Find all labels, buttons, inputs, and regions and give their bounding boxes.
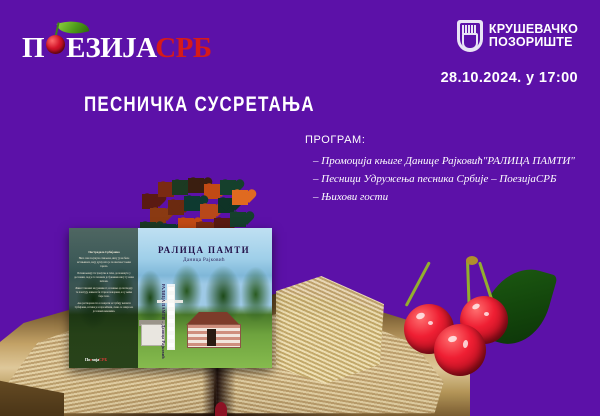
open-book-right-edge [276,276,384,384]
poem-stanza: Ниса сам посрнула слављена, нису ју ни б… [74,257,134,269]
heart-icon [184,196,200,211]
poezija-srb-logo: ПОЕЗИЈАСРБ [22,20,202,68]
heart-icon [168,200,184,215]
poem-stanza: Ако растворена ти се поврати за Србију в… [74,302,134,314]
shield-emblem-icon [457,20,483,52]
poster-canvas: ПОЕЗИЈАСРБ КРУШЕВАЧКО ПОЗОРИШТЕ 28.10.20… [0,0,600,416]
theatre-logo: КРУШЕВАЧКО ПОЗОРИШТЕ [457,20,578,52]
logo-letters-ezija: ЕЗИЈА [66,32,155,64]
heart-icon [230,212,246,227]
cabin-building [185,312,241,346]
list-item: – Промоција књиге Данице Рајковић"РАЛИЦА… [313,152,575,170]
book-author: Даница Рајковић [148,258,260,263]
poem-stanza: Испеваљевају ти тренутке и тиха, да поме… [74,272,134,284]
heart-icon [200,204,216,219]
book-spine-text: РАЛИЦА ПАМТИ – Даница Рајковић [159,284,167,350]
back-cover-logo: ПоезијаСРБ [85,357,107,362]
theatre-name: КРУШЕВАЧКО ПОЗОРИШТЕ [489,23,578,49]
poem-stanza: Живот танових мој ранивост, и певања да … [74,287,134,299]
shield-drop-icon [462,33,478,50]
book-back-cover: Пострадала Србијанка Ниса сам посрнула с… [69,228,138,368]
page-title: ПЕСНИЧКА СУСРЕТАЊА [84,92,315,117]
theatre-name-line2: ПОЗОРИШТЕ [489,36,578,49]
cherry-icon [434,324,486,376]
book-cover-image: РАЛИЦА ПАМТИ Даница Рајковић РАЛИЦА ПАМТ… [69,228,272,368]
logo-letter-p: П [22,32,44,64]
book-spine [167,284,175,350]
program-heading: ПРОГРАМ: [305,134,575,146]
program-list: – Промоција књиге Данице Рајковић"РАЛИЦА… [305,152,575,206]
back-cover-poem: Пострадала Србијанка Ниса сам посрнула с… [74,250,134,317]
book-bookmark [215,402,227,416]
heart-icon [232,190,248,205]
heart-icon [188,178,204,193]
book-title: РАЛИЦА ПАМТИ [148,245,260,255]
cherries-icon [398,248,558,378]
cover-title-block: РАЛИЦА ПАМТИ Даница Рајковић [148,245,260,263]
heart-icon [172,180,188,195]
logo-letters-srb: СРБ [155,32,211,64]
cherry-icon [46,35,65,54]
event-datetime: 28.10.2024. у 17:00 [441,70,578,86]
list-item: – Песници Удружења песника Србије – Поез… [313,170,575,188]
poem-heading: Пострадала Србијанка [74,250,134,255]
program-block: ПРОГРАМ: – Промоција књиге Данице Рајков… [305,134,575,206]
cherry-stem [405,261,431,307]
list-item: – Њихови гости [313,188,575,206]
cabin-door [207,329,216,346]
cherry-stem-knot [466,256,478,265]
